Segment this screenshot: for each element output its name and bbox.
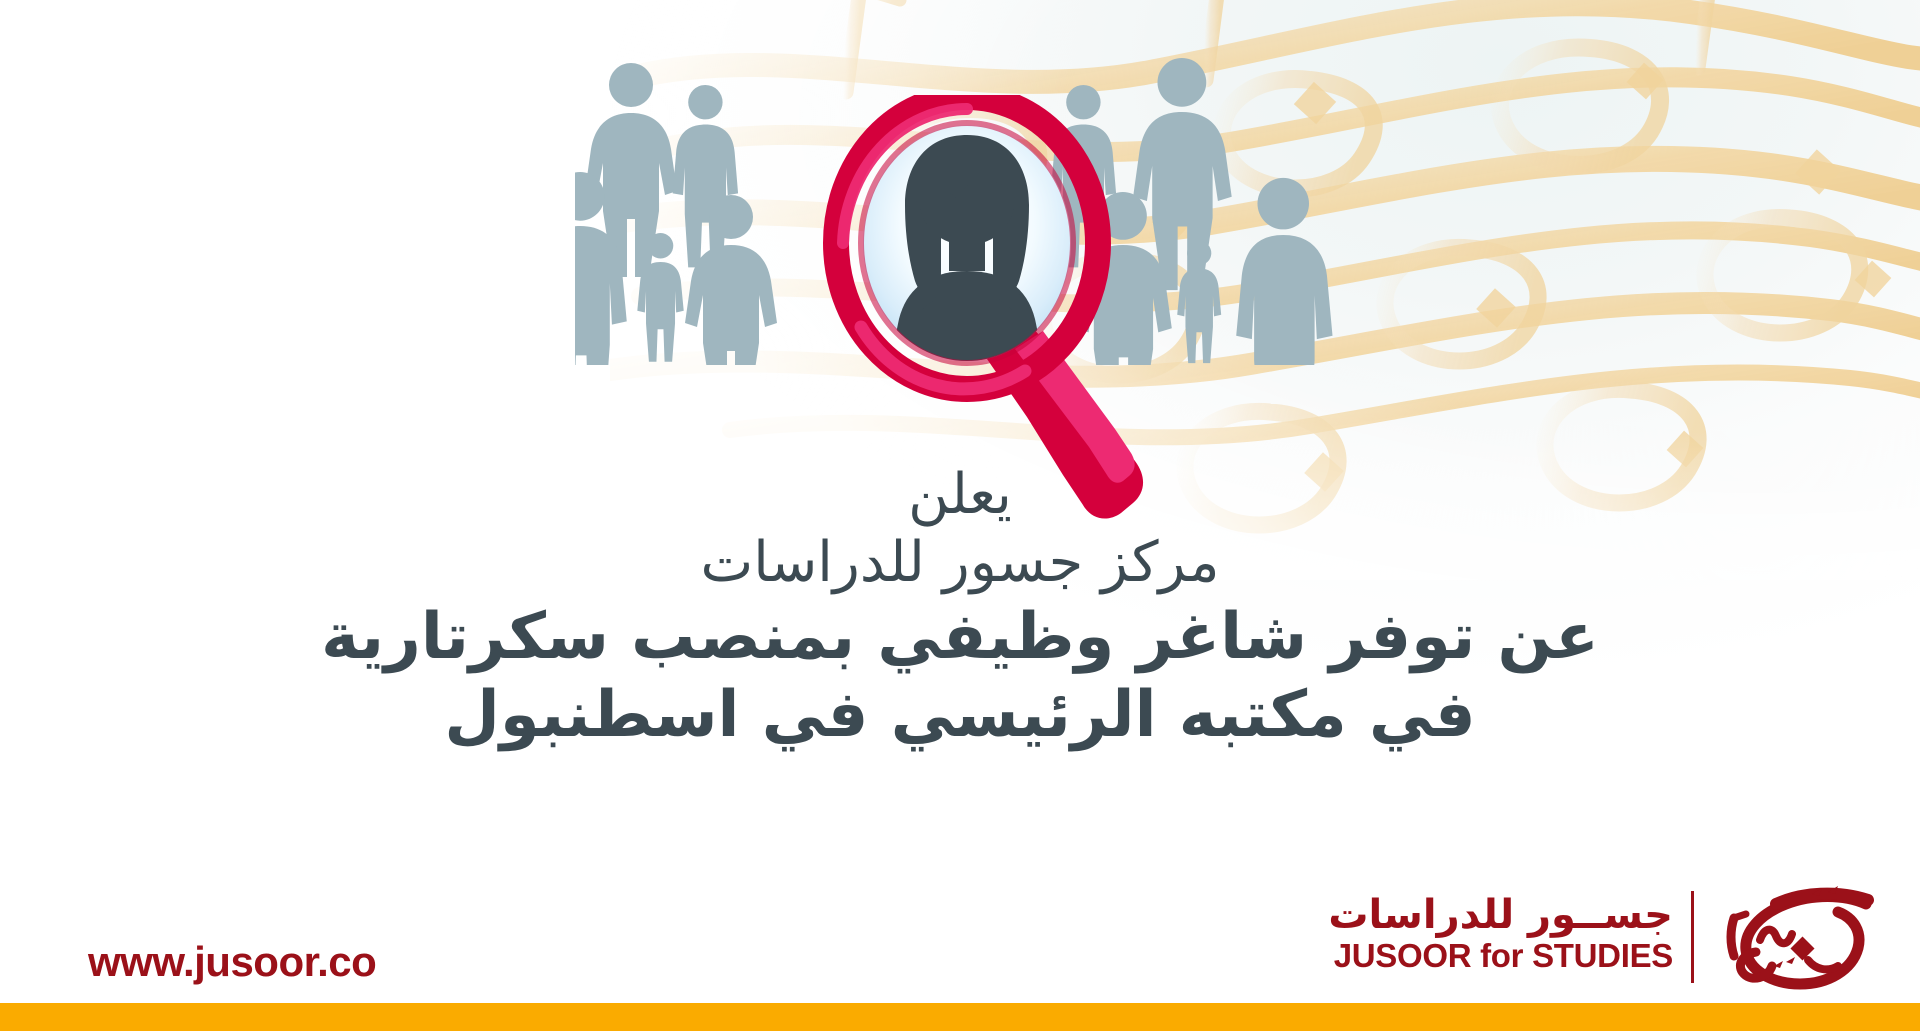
headline-line-4: في مكتبه الرئيسي في اسطنبول <box>0 678 1920 754</box>
brand-lockup: جســور للدراسات JUSOOR for STUDIES <box>1328 872 1884 1002</box>
headline-line-1: يعلن <box>0 462 1920 528</box>
woman-silhouette-icon <box>891 135 1043 461</box>
brand-name-english: JUSOOR for STUDIES <box>1328 938 1673 974</box>
jusoor-calligraphy-logo-icon <box>1716 874 1884 1000</box>
headline-line-2: مركز جسور للدراسات <box>0 530 1920 596</box>
brand-divider <box>1691 891 1694 983</box>
brand-name-arabic: جســور للدراسات <box>1328 893 1673 938</box>
bottom-accent-bar <box>0 1003 1920 1031</box>
announcement-headline: يعلن مركز جسور للدراسات عن توفر شاغر وظي… <box>0 462 1920 753</box>
website-url[interactable]: www.jusoor.co <box>88 938 376 986</box>
headline-line-3: عن توفر شاغر وظيفي بمنصب سكرتارية <box>0 600 1920 676</box>
brand-wordmark: جســور للدراسات JUSOOR for STUDIES <box>1328 893 1673 980</box>
job-announcement-poster: يعلن مركز جسور للدراسات عن توفر شاغر وظي… <box>0 0 1920 1031</box>
